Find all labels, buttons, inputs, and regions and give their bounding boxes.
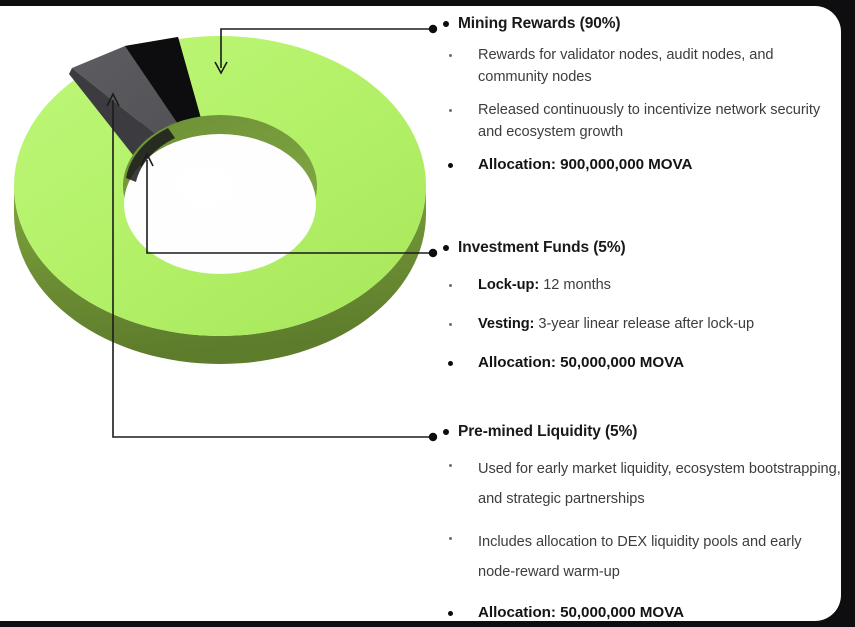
bullet-dot-icon xyxy=(449,109,452,112)
list-item-allocation: Allocation: 50,000,000 MOVA xyxy=(441,352,841,374)
bullet-dot-icon xyxy=(449,323,452,326)
legend-section-pre-mined-liquidity: Pre-mined Liquidity (5%) Used for early … xyxy=(441,422,841,621)
bullet-dot-icon xyxy=(449,284,452,287)
legend-text-column: Mining Rewards (90%) Rewards for validat… xyxy=(441,6,841,621)
content-card: Mining Rewards (90%) Rewards for validat… xyxy=(0,6,841,621)
legend-section-mining-rewards: Mining Rewards (90%) Rewards for validat… xyxy=(441,14,841,176)
list-item-value: 12 months xyxy=(539,277,611,293)
legend-section-investment-funds: Investment Funds (5%) Lock-up: 12 months… xyxy=(441,238,841,374)
list-item-value: 3-year linear release after lock-up xyxy=(534,316,754,332)
list-item-label: Used for early market liquidity, ecosyst… xyxy=(478,461,841,507)
list-item-label: Released continuously to incentivize net… xyxy=(478,102,820,140)
donut-chart xyxy=(0,6,440,446)
list-item: Vesting: 3-year linear release after loc… xyxy=(441,313,841,335)
bullet-dot-icon xyxy=(449,464,452,467)
donut-chart-svg xyxy=(0,6,440,446)
bullet-dot-icon xyxy=(443,245,449,251)
list-item: Used for early market liquidity, ecosyst… xyxy=(441,454,841,514)
section-heading: Mining Rewards (90%) xyxy=(441,14,841,33)
section-heading-label: Pre-mined Liquidity (5%) xyxy=(458,423,637,440)
section-heading-label: Investment Funds (5%) xyxy=(458,239,626,256)
bullet-dot-icon xyxy=(443,21,449,27)
bullet-dot-icon xyxy=(449,54,452,57)
list-item: Lock-up: 12 months xyxy=(441,274,841,296)
list-item-allocation: Allocation: 50,000,000 MOVA xyxy=(441,602,841,621)
list-item-label: Includes allocation to DEX liquidity poo… xyxy=(478,534,802,580)
allocation-label: Allocation: 900,000,000 MOVA xyxy=(478,156,692,173)
donut-hole xyxy=(123,115,317,274)
slide-root: Mining Rewards (90%) Rewards for validat… xyxy=(0,0,855,627)
section-heading: Pre-mined Liquidity (5%) xyxy=(441,422,841,441)
allocation-label: Allocation: 50,000,000 MOVA xyxy=(478,354,684,371)
list-item-allocation: Allocation: 900,000,000 MOVA xyxy=(441,154,841,176)
bullet-dot-icon xyxy=(448,611,453,616)
list-item: Rewards for validator nodes, audit nodes… xyxy=(441,44,841,88)
list-item-label: Rewards for validator nodes, audit nodes… xyxy=(478,47,773,85)
bullet-dot-icon xyxy=(449,537,452,540)
section-heading: Investment Funds (5%) xyxy=(441,238,841,257)
list-item-term: Lock-up: xyxy=(478,277,539,293)
bullet-dot-icon xyxy=(443,429,449,435)
list-item: Released continuously to incentivize net… xyxy=(441,99,841,143)
list-item: Includes allocation to DEX liquidity poo… xyxy=(441,527,841,587)
section-heading-label: Mining Rewards (90%) xyxy=(458,15,621,32)
bullet-dot-icon xyxy=(448,361,453,366)
list-item-term: Vesting: xyxy=(478,316,534,332)
allocation-label: Allocation: 50,000,000 MOVA xyxy=(478,604,684,621)
bullet-dot-icon xyxy=(448,163,453,168)
